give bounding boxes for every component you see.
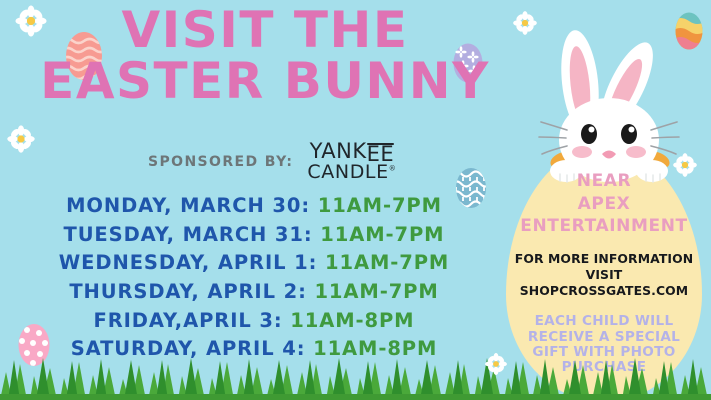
egg-info-line2: VISIT SHOPCROSSGATES.COM — [511, 267, 697, 299]
schedule-time: 11AM-7PM — [325, 251, 449, 274]
egg-more-info: FOR MORE INFORMATION VISIT SHOPCROSSGATE… — [506, 251, 702, 299]
title-line-2: EASTER BUNNY — [0, 57, 530, 106]
schedule-day: WEDNESDAY, APRIL 1: — [59, 251, 318, 274]
page-title: VISIT THE EASTER BUNNY — [0, 6, 530, 105]
schedule-day: MONDAY, MARCH 30: — [66, 194, 310, 217]
schedule-row: TUESDAY, MARCH 31: 11AM-7PM — [0, 221, 508, 250]
yankee-candle-logo-line1a: YANK — [310, 142, 367, 161]
schedule-row: THURSDAY, APRIL 2: 11AM-7PM — [0, 278, 508, 307]
yankee-candle-logo-line2: CANDLE — [307, 161, 388, 183]
egg-info-panel: NEAR APEX ENTERTAINMENT FOR MORE INFORMA… — [506, 146, 702, 375]
schedule-day: FRIDAY,APRIL 3: — [94, 309, 283, 332]
schedule-day: SATURDAY, APRIL 4: — [71, 337, 306, 360]
schedule-time: 11AM-7PM — [314, 280, 438, 303]
schedule-row: FRIDAY,APRIL 3: 11AM-8PM — [0, 307, 508, 336]
schedule-day: THURSDAY, APRIL 2: — [69, 280, 306, 303]
egg-heading-line2: APEX — [506, 193, 702, 216]
schedule-list: MONDAY, MARCH 30: 11AM-7PM TUESDAY, MARC… — [0, 192, 508, 364]
egg-gift-line2: RECEIVE A SPECIAL — [514, 330, 694, 345]
sponsored-by-label: SPONSORED BY: — [148, 154, 293, 170]
schedule-time: 11AM-8PM — [313, 337, 437, 360]
daisy-flower-icon — [6, 124, 36, 154]
schedule-row: WEDNESDAY, APRIL 1: 11AM-7PM — [0, 249, 508, 278]
schedule-row: MONDAY, MARCH 30: 11AM-7PM — [0, 192, 508, 221]
registered-trademark-icon: ® — [389, 165, 397, 173]
schedule-time: 11AM-8PM — [290, 309, 414, 332]
egg-info-line1: FOR MORE INFORMATION — [511, 251, 697, 267]
egg-heading-line3: ENTERTAINMENT — [506, 215, 702, 238]
egg-gift-line1: EACH CHILD WILL — [514, 314, 694, 329]
daisy-flower-icon — [484, 352, 508, 376]
egg-heading: NEAR APEX ENTERTAINMENT — [506, 170, 702, 238]
egg-heading-line1: NEAR — [506, 170, 702, 193]
yankee-candle-logo: YANKEE CANDLE® — [307, 142, 396, 182]
grass-border — [0, 358, 711, 400]
easter-bunny-poster: VISIT THE EASTER BUNNY SPONSORED BY: YAN… — [0, 0, 711, 400]
schedule-time: 11AM-7PM — [320, 223, 444, 246]
schedule-day: TUESDAY, MARCH 31: — [64, 223, 313, 246]
schedule-time: 11AM-7PM — [318, 194, 442, 217]
title-line-1: VISIT THE — [0, 6, 530, 55]
sponsor-row: SPONSORED BY: YANKEE CANDLE® — [148, 142, 396, 182]
